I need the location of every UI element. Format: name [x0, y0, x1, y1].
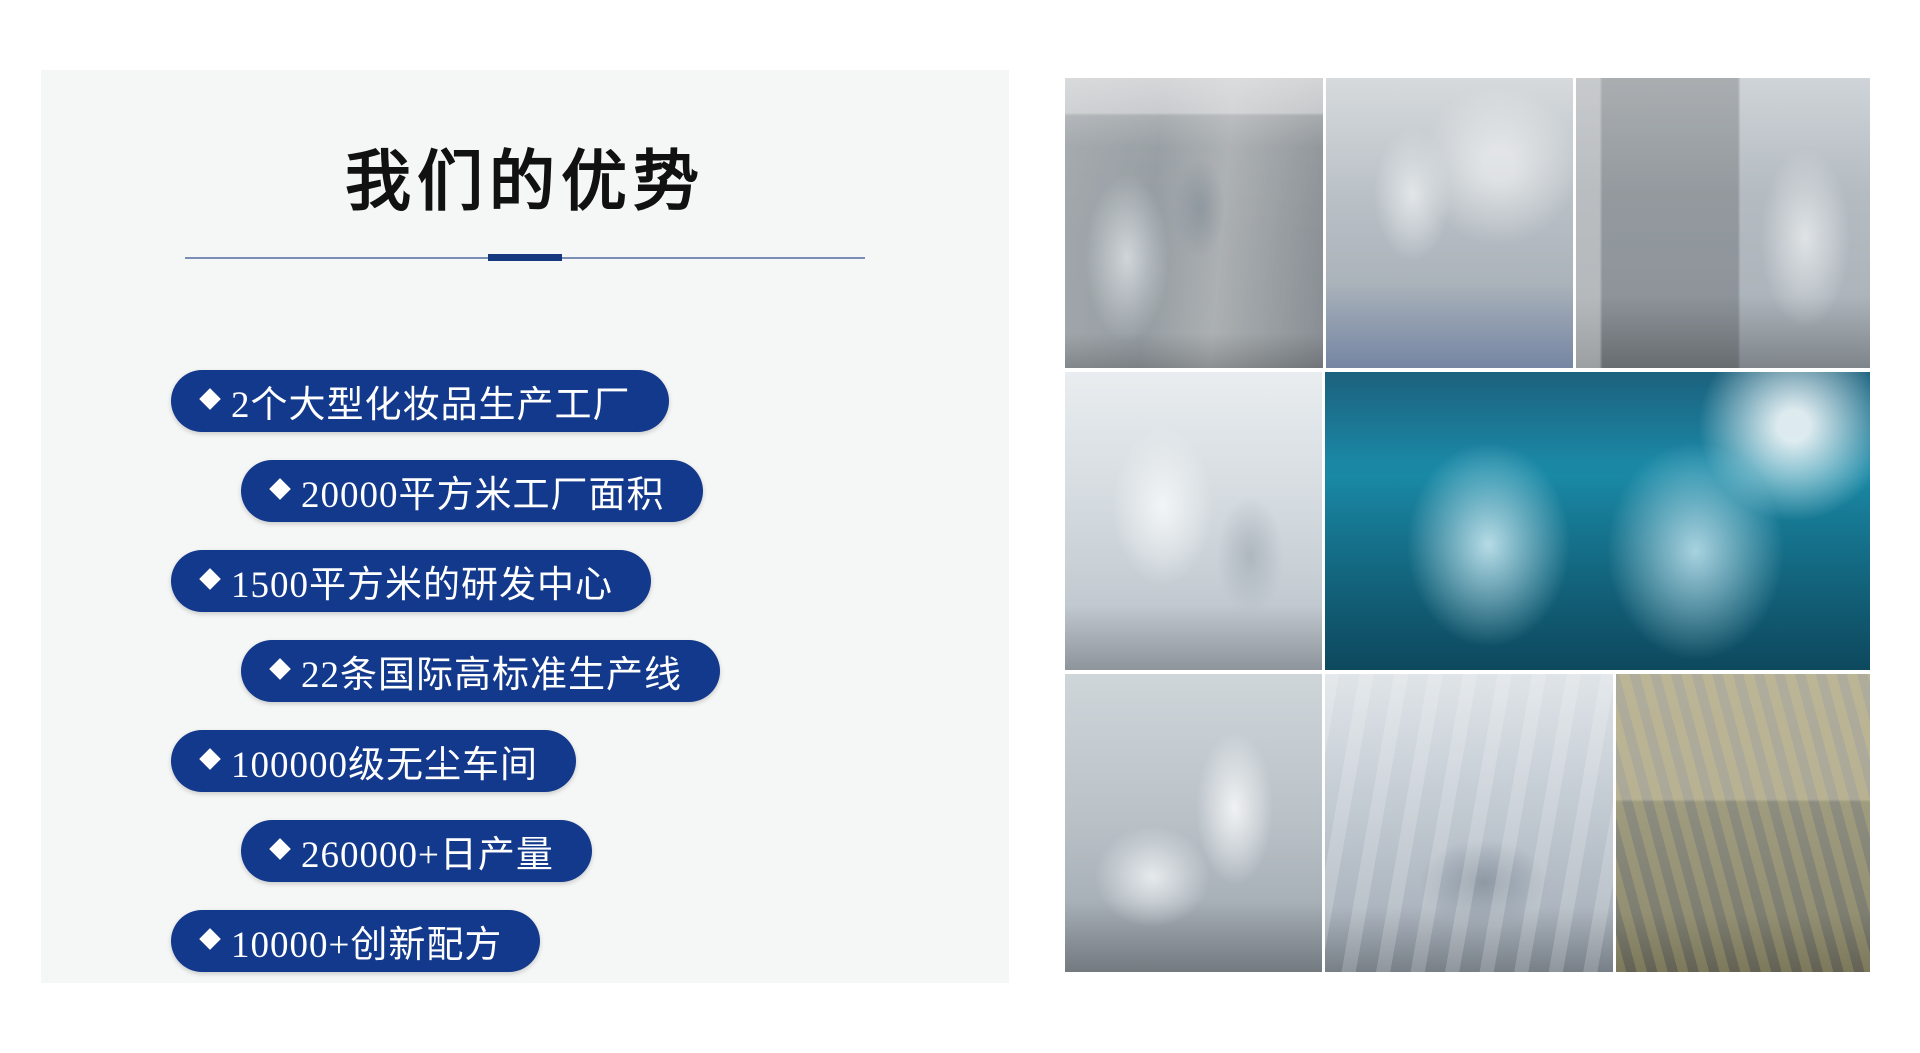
advantage-label: 2个大型化妆品生产工厂 [231, 374, 631, 428]
photo-assembly-line-workers: 流水线作业 [1325, 674, 1613, 972]
title-divider [185, 254, 865, 262]
photo-production-workshop-overview: 生产车间全景 [1326, 78, 1573, 368]
advantage-pill-3: 1500平方米的研发中心 [171, 550, 651, 612]
title-block: 我们的优势 [41, 150, 1009, 262]
advantage-pill-7: 10000+创新配方 [171, 910, 540, 972]
advantage-label: 100000级无尘车间 [231, 734, 538, 788]
list-item: 260000+日产量 [41, 820, 1009, 895]
diamond-bullet-icon [269, 478, 291, 500]
list-item: 1500平方米的研发中心 [41, 550, 1009, 625]
photo-collage: 乳化锅车间 生产车间全景 灌装机生产线 无尘车间操作员 实验室品质检测 不锈钢储… [1065, 78, 1870, 983]
advantage-label: 10000+创新配方 [231, 914, 502, 968]
diamond-bullet-icon [199, 748, 221, 770]
advantage-label: 22条国际高标准生产线 [301, 644, 682, 698]
advantage-pill-5: 100000级无尘车间 [171, 730, 576, 792]
diamond-bullet-icon [199, 568, 221, 590]
advantage-label: 20000平方米工厂面积 [301, 464, 665, 518]
photo-filling-machine-line: 灌装机生产线 [1576, 78, 1870, 368]
photo-mixing-tanks-workshop: 乳化锅车间 [1065, 78, 1323, 368]
list-item: 100000级无尘车间 [41, 730, 1009, 805]
photo-lab-quality-inspection: 实验室品质检测 [1325, 372, 1870, 670]
diamond-bullet-icon [199, 388, 221, 410]
divider-accent [488, 254, 562, 261]
slide-page: 我们的优势 2个大型化妆品生产工厂 20000平方米工厂面积 [0, 0, 1920, 1053]
page-title: 我们的优势 [41, 150, 1009, 216]
diamond-bullet-icon [269, 658, 291, 680]
list-item: 22条国际高标准生产线 [41, 640, 1009, 715]
advantages-panel: 我们的优势 2个大型化妆品生产工厂 20000平方米工厂面积 [41, 70, 1009, 983]
advantage-label: 260000+日产量 [301, 824, 554, 878]
list-item: 10000+创新配方 [41, 910, 1009, 985]
diamond-bullet-icon [199, 928, 221, 950]
diamond-bullet-icon [269, 838, 291, 860]
advantage-pill-6: 260000+日产量 [241, 820, 592, 882]
photo-cleanroom-operator: 无尘车间操作员 [1065, 372, 1322, 670]
advantages-list: 2个大型化妆品生产工厂 20000平方米工厂面积 1500平方米的研发中心 [41, 370, 1009, 1000]
list-item: 2个大型化妆品生产工厂 [41, 370, 1009, 445]
advantage-pill-4: 22条国际高标准生产线 [241, 640, 720, 702]
advantage-label: 1500平方米的研发中心 [231, 554, 613, 608]
photo-packaging-line-workers: 包装线作业 [1616, 674, 1870, 972]
photo-stainless-steel-tank: 不锈钢储料罐 [1065, 674, 1322, 972]
advantage-pill-2: 20000平方米工厂面积 [241, 460, 703, 522]
list-item: 20000平方米工厂面积 [41, 460, 1009, 535]
advantage-pill-1: 2个大型化妆品生产工厂 [171, 370, 669, 432]
